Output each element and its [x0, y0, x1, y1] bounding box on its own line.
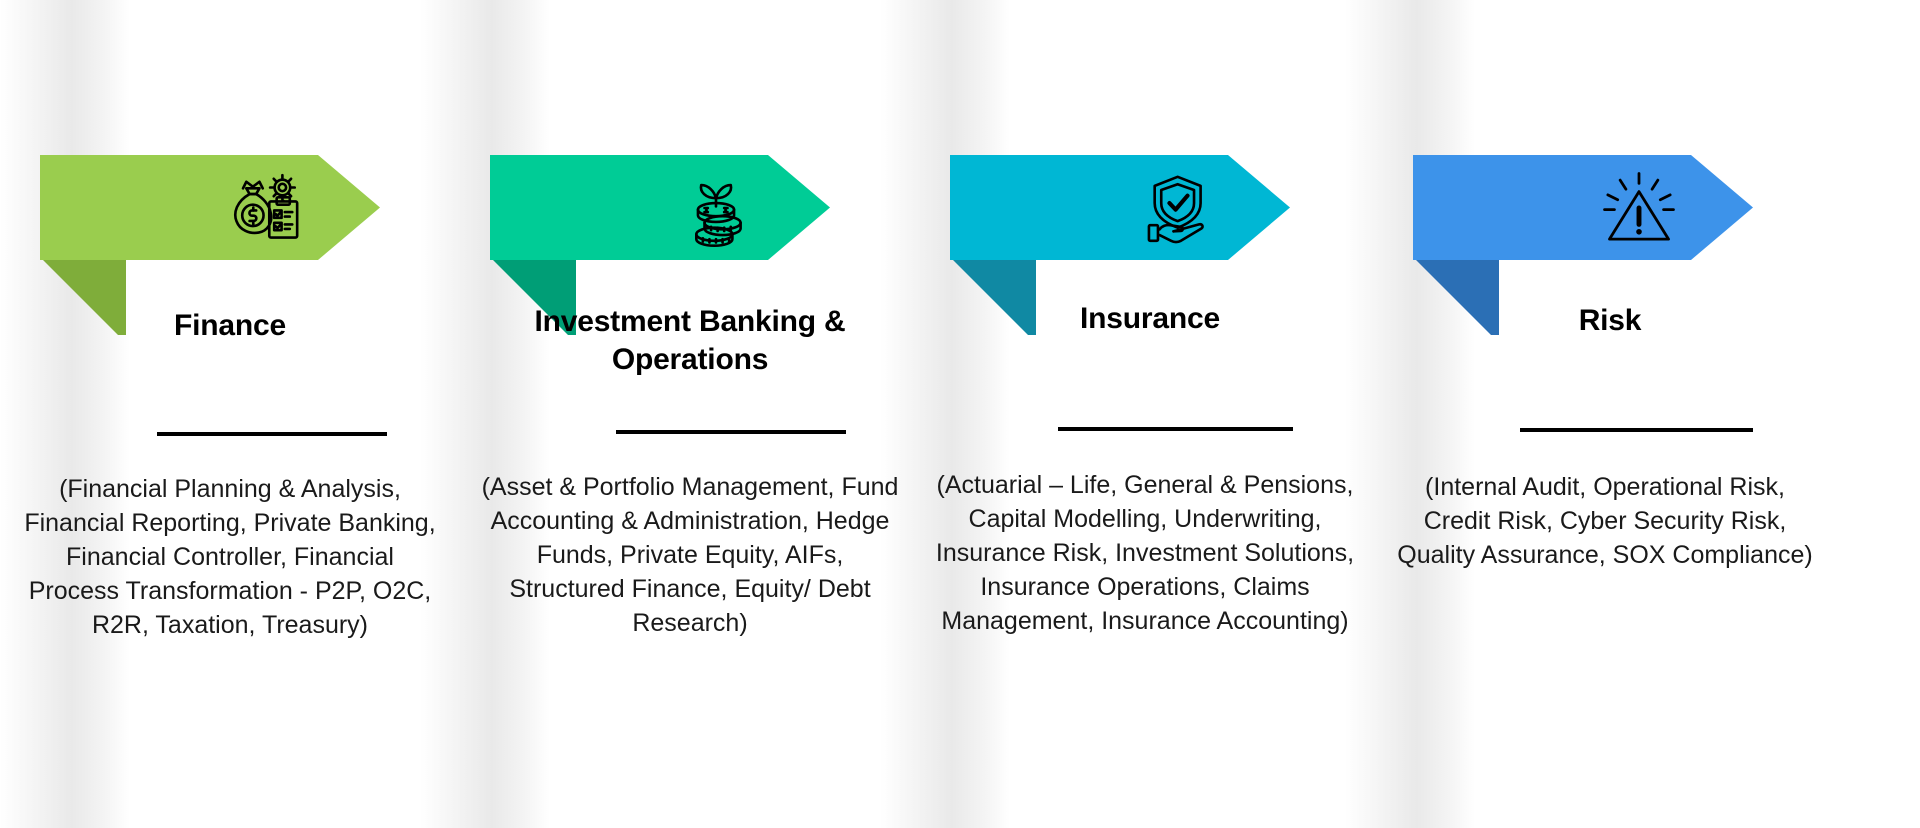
- money-bag-gear-checklist-icon: [225, 167, 307, 249]
- warning-triangle-exclamation-icon: [1598, 167, 1680, 249]
- column-finance: Finance (Financial Planning & Analysis, …: [0, 0, 460, 828]
- column-risk: Risk (Internal Audit, Operational Risk, …: [1380, 0, 1840, 828]
- column-title-risk: Risk: [1415, 302, 1805, 340]
- column-title-investment-banking: Investment Banking & Operations: [490, 303, 890, 380]
- banner-arrow-insurance: [950, 155, 1290, 260]
- column-investment-banking-and-operations: Investment Banking & Operations (Asset &…: [460, 0, 920, 828]
- four-pillar-diagram: Finance (Financial Planning & Analysis, …: [0, 0, 1920, 828]
- banner-arrow-finance: [40, 155, 380, 260]
- shield-check-on-hand-icon: [1135, 167, 1217, 249]
- column-description-finance: (Financial Planning & Analysis, Financia…: [20, 472, 440, 642]
- column-divider-insurance: [1058, 427, 1293, 431]
- column-title-finance: Finance: [35, 307, 425, 345]
- column-description-investment-banking: (Asset & Portfolio Management, Fund Acco…: [480, 470, 900, 640]
- coins-sprout-growth-icon: [675, 167, 757, 249]
- column-divider-investment-banking: [616, 430, 846, 434]
- column-title-insurance: Insurance: [955, 300, 1345, 338]
- column-divider-risk: [1520, 428, 1753, 432]
- banner-arrow-investment-banking: [490, 155, 830, 260]
- banner-arrow-risk: [1413, 155, 1753, 260]
- column-description-insurance: (Actuarial – Life, General & Pensions, C…: [930, 468, 1360, 638]
- column-divider-finance: [157, 432, 387, 436]
- column-description-risk: (Internal Audit, Operational Risk, Credi…: [1390, 470, 1820, 572]
- column-insurance: Insurance (Actuarial – Life, General & P…: [920, 0, 1380, 828]
